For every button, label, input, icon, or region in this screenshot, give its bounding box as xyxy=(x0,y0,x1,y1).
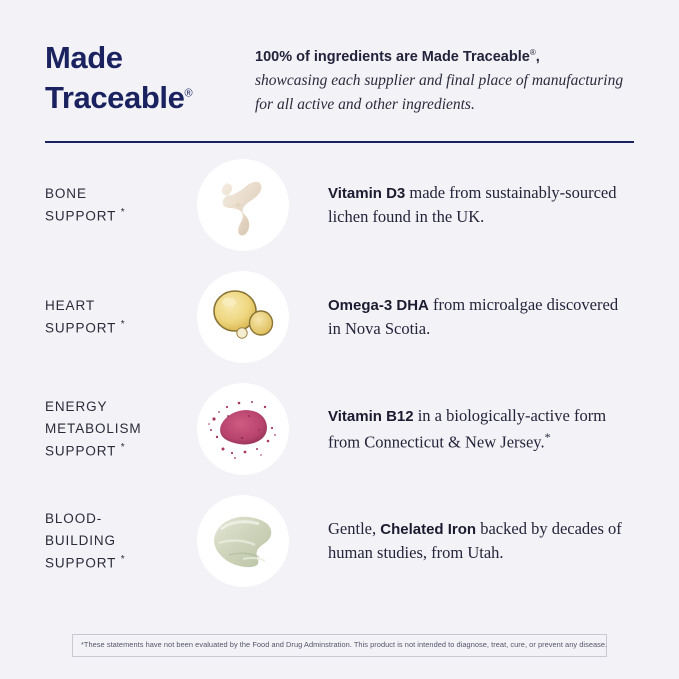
registered-trademark-icon: ® xyxy=(184,87,192,99)
brand-line-1: Made xyxy=(45,38,255,78)
benefit-swatch-wrap xyxy=(190,159,295,251)
benefit-label-line: HEART xyxy=(45,295,190,317)
benefit-highlight: Vitamin D3 xyxy=(328,185,405,202)
disclaimer-text: *These statements have not been evaluate… xyxy=(81,640,598,650)
intro-block: 100% of ingredients are Made Traceable®,… xyxy=(255,38,634,117)
benefit-label: BONE SUPPORT * xyxy=(45,183,190,227)
benefit-rows: BONE SUPPORT * xyxy=(45,149,634,597)
benefit-highlight: Chelated Iron xyxy=(380,521,476,538)
benefit-row: BONE SUPPORT * xyxy=(45,149,634,261)
benefit-label-line: SUPPORT * xyxy=(45,205,190,227)
benefit-description: Vitamin D3 made from sustainably-sourced… xyxy=(295,181,634,230)
header-divider xyxy=(45,141,634,143)
benefit-label-line: SUPPORT * xyxy=(45,552,190,574)
asterisk-icon: * xyxy=(121,554,126,565)
benefit-label-line: BONE xyxy=(45,183,190,205)
pink-powder-swatch xyxy=(197,383,289,475)
intro-subtitle: showcasing each supplier and final place… xyxy=(255,69,634,116)
asterisk-icon: * xyxy=(545,430,551,444)
benefit-label: ENERGY METABOLISM SUPPORT * xyxy=(45,396,190,462)
benefit-highlight: Omega-3 DHA xyxy=(328,297,429,314)
brand-logo: Made Traceable® xyxy=(45,38,255,117)
sage-green-paste-swatch xyxy=(197,495,289,587)
benefit-label-line-text: SUPPORT xyxy=(45,556,116,571)
benefit-highlight: Vitamin B12 xyxy=(328,408,414,425)
intro-lead-text: 100% of ingredients are Made Traceable xyxy=(255,49,530,65)
benefit-label: HEART SUPPORT * xyxy=(45,295,190,339)
asterisk-icon: * xyxy=(121,442,126,453)
intro-lead: 100% of ingredients are Made Traceable®, xyxy=(255,46,634,68)
benefit-label-line: SUPPORT * xyxy=(45,317,190,339)
golden-oil-droplets-swatch xyxy=(197,271,289,363)
benefit-description: Vitamin B12 in a biologically-active for… xyxy=(295,404,634,454)
benefit-label-line: BLOOD- xyxy=(45,508,190,530)
benefit-swatch-wrap xyxy=(190,495,295,587)
brand-line-2: Traceable® xyxy=(45,78,255,118)
benefit-label-line-text: SUPPORT xyxy=(45,444,116,459)
benefit-row: ENERGY METABOLISM SUPPORT * xyxy=(45,373,634,485)
made-traceable-infographic: Made Traceable® 100% of ingredients are … xyxy=(0,0,679,679)
benefit-label-line: ENERGY xyxy=(45,396,190,418)
intro-lead-comma: , xyxy=(536,49,540,65)
benefit-row: BLOOD- BUILDING SUPPORT * xyxy=(45,485,634,597)
benefit-row: HEART SUPPORT * xyxy=(45,261,634,373)
benefit-description: Gentle, Chelated Iron backed by decades … xyxy=(295,517,634,566)
benefit-label-line: BUILDING xyxy=(45,530,190,552)
benefit-label-line-text: SUPPORT xyxy=(45,209,116,224)
cream-droplets-swatch xyxy=(197,159,289,251)
header: Made Traceable® 100% of ingredients are … xyxy=(45,0,634,117)
benefit-description: Omega-3 DHA from microalgae discovered i… xyxy=(295,293,634,342)
benefit-label-line-text: SUPPORT xyxy=(45,321,116,336)
benefit-label: BLOOD- BUILDING SUPPORT * xyxy=(45,508,190,574)
brand-line-2-text: Traceable xyxy=(45,80,184,115)
asterisk-icon: * xyxy=(121,319,126,330)
asterisk-icon: * xyxy=(121,207,126,218)
benefit-label-line: SUPPORT * xyxy=(45,440,190,462)
disclaimer-box: *These statements have not been evaluate… xyxy=(72,634,607,657)
benefit-label-line: METABOLISM xyxy=(45,418,190,440)
benefit-prefix: Gentle, xyxy=(328,519,380,538)
benefit-swatch-wrap xyxy=(190,271,295,363)
benefit-swatch-wrap xyxy=(190,383,295,475)
